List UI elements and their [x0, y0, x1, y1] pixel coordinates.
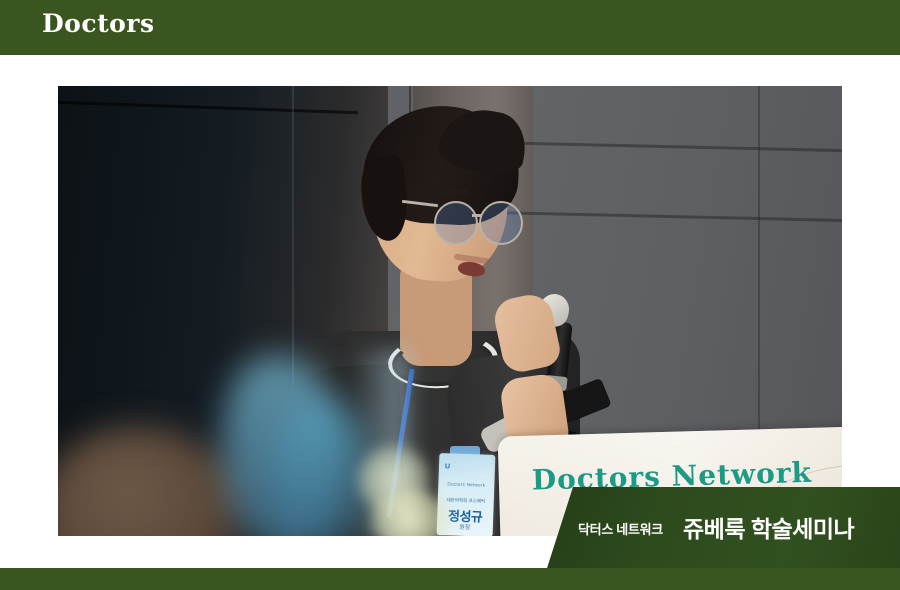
speaker-hair-side — [359, 155, 409, 243]
caption-small-label: 닥터스 네트워크 — [578, 519, 663, 538]
glasses-left-lens — [434, 201, 478, 245]
page-root: Doctors — [0, 0, 900, 590]
glasses-right-lens — [479, 201, 523, 245]
header-bar: Doctors — [0, 0, 900, 55]
caption-main-label: 쥬베룩 학술세미나 — [683, 510, 854, 544]
page-title: Doctors — [42, 11, 155, 36]
bokeh-teal-streak-secondary — [273, 396, 373, 536]
badge-affiliation: 대한의학회 코스메틱 — [438, 497, 494, 505]
blurred-audience-head — [58, 426, 238, 536]
badge-logo: U — [445, 463, 450, 470]
seminar-photo: U Doctors Network 대한의학회 코스메틱 정성규 원장 Doct… — [58, 86, 842, 536]
footer-bar — [0, 568, 900, 590]
foreground-bokeh-layer — [58, 366, 388, 536]
badge-subtitle: Doctors Network — [438, 481, 494, 488]
glasses-bridge — [472, 214, 482, 217]
